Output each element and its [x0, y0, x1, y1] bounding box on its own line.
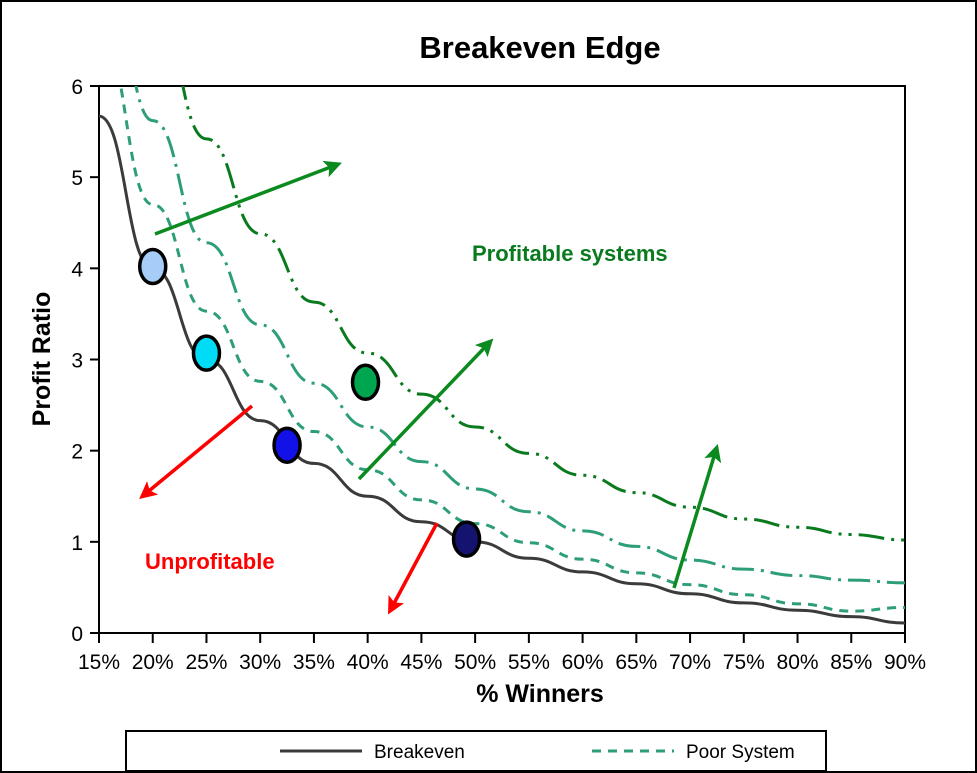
x-tick-label: 40% — [347, 651, 389, 674]
breakeven-edge-chart: Breakeven Edge 0123456 15%20%25%30%35%40… — [2, 2, 977, 773]
series-line-average-system — [99, 2, 905, 583]
chart-page: Breakeven Edge 0123456 15%20%25%30%35%40… — [0, 0, 977, 773]
x-tick-label: 45% — [400, 651, 442, 674]
x-tick-label: 30% — [239, 651, 281, 674]
x-tick-label: 25% — [185, 651, 227, 674]
x-tick-label: 35% — [293, 651, 335, 674]
x-tick-label: 70% — [669, 651, 711, 674]
legend-label-poor-system: Poor System — [686, 742, 795, 763]
y-tick-label: 1 — [71, 532, 83, 555]
data-point-blue-system[interactable] — [274, 428, 300, 462]
chart-legend: BreakevenPoor System — [126, 731, 826, 771]
y-tick-label: 4 — [71, 258, 83, 281]
x-tick-label: 75% — [723, 651, 765, 674]
series-line-poor-system — [99, 31, 905, 611]
unprofitable-arrow-lower — [391, 523, 437, 609]
x-tick-label: 65% — [615, 651, 657, 674]
legend-label-breakeven: Breakeven — [374, 742, 465, 763]
profitable-arrow-middle — [359, 343, 489, 479]
annotation-profitable-systems: Profitable systems — [472, 241, 668, 266]
series-line-breakeven — [99, 116, 905, 623]
unprofitable-arrow-upper — [144, 406, 252, 495]
data-point-navy-system[interactable] — [454, 522, 480, 556]
annotation-labels: Profitable systemsUnprofitable — [145, 241, 668, 574]
x-tick-label: 80% — [777, 651, 819, 674]
y-tick-label: 2 — [71, 441, 83, 464]
data-point-light-blue-system[interactable] — [140, 250, 166, 284]
y-tick-label: 0 — [71, 623, 83, 646]
x-tick-label: 50% — [454, 651, 496, 674]
annotation-arrows — [144, 165, 716, 609]
x-tick-label: 15% — [78, 651, 120, 674]
y-tick-label: 3 — [71, 350, 83, 373]
y-axis-title: Profit Ratio — [28, 292, 56, 427]
y-tick-label: 6 — [71, 76, 83, 99]
data-point-cyan-system[interactable] — [193, 336, 219, 370]
x-axis-title: % Winners — [476, 680, 604, 708]
x-axis: 15%20%25%30%35%40%45%50%55%60%65%70%75%8… — [78, 633, 926, 674]
profitable-arrow-right — [674, 450, 716, 588]
y-axis: 0123456 — [71, 76, 99, 646]
x-tick-label: 60% — [562, 651, 604, 674]
data-point-green-system[interactable] — [353, 365, 379, 399]
annotation-unprofitable: Unprofitable — [145, 549, 275, 574]
series-line-good-system — [99, 2, 905, 540]
series-curves — [99, 2, 905, 623]
x-tick-label: 85% — [830, 651, 872, 674]
page-title: Breakeven Edge — [419, 30, 660, 65]
x-tick-label: 90% — [884, 651, 926, 674]
y-tick-label: 5 — [71, 167, 83, 190]
x-tick-label: 20% — [132, 651, 174, 674]
x-tick-label: 55% — [508, 651, 550, 674]
